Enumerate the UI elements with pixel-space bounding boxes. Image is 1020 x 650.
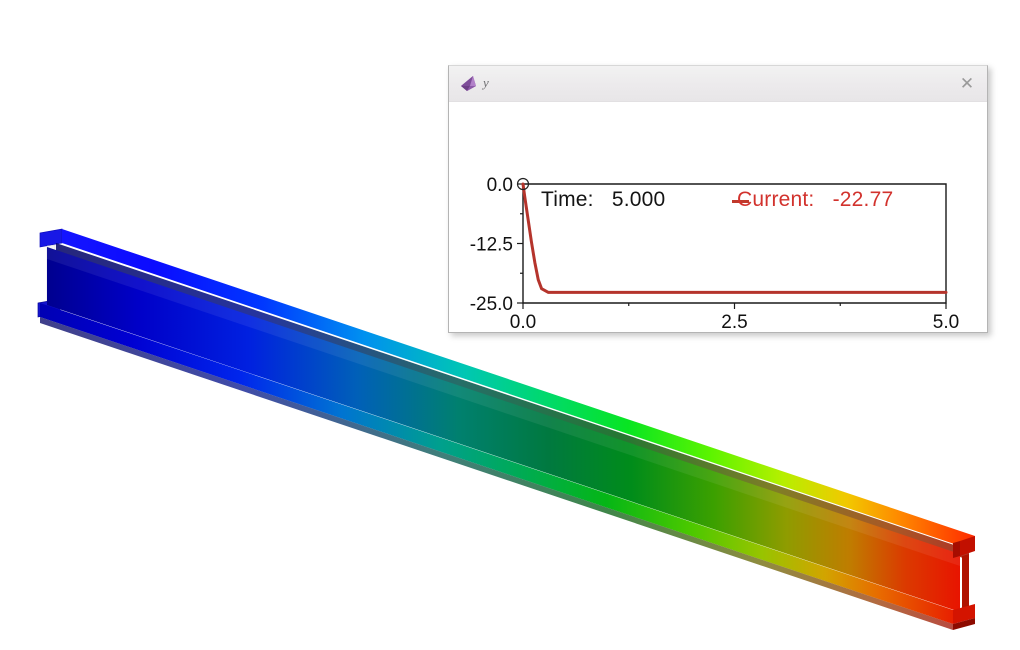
current-value: -22.77: [833, 188, 894, 211]
x-tick-label: 0.0: [510, 312, 536, 332]
time-label: Time:: [541, 188, 594, 211]
application-root: y ✕ 0.0-12.5-25.0 0.02.55.0: [0, 0, 1020, 650]
beam-right-web-face: [962, 554, 969, 612]
beam-bottom-flange-front: [40, 303, 953, 624]
plot-body: 0.0-12.5-25.0 0.02.55.0 Time: 5.000 Curr…: [449, 102, 987, 332]
time-value: 5.000: [612, 188, 666, 211]
x-tick-label: 5.0: [933, 312, 959, 332]
x-tick-label: 2.5: [721, 312, 747, 332]
plot-window[interactable]: y ✕ 0.0-12.5-25.0 0.02.55.0: [448, 65, 988, 333]
current-readout: Current: -22.77: [737, 188, 893, 212]
y-axis-ticks: [517, 184, 523, 303]
cone-icon: [459, 74, 479, 94]
y-tick-label: 0.0: [487, 175, 513, 196]
x-axis-tick-labels: 0.02.55.0: [510, 312, 959, 332]
x-axis-ticks: [523, 303, 946, 309]
plot-window-titlebar[interactable]: y ✕: [449, 66, 987, 102]
line-chart[interactable]: 0.0-12.5-25.0 0.02.55.0: [449, 102, 987, 332]
beam-right-top-flange-side: [953, 541, 960, 558]
y-axis-tick-labels: 0.0-12.5-25.0: [470, 175, 513, 315]
beam-bottom-flange-underside: [40, 317, 953, 630]
current-label: Current:: [737, 188, 814, 211]
close-icon[interactable]: ✕: [955, 72, 979, 96]
plot-window-title: y: [483, 75, 489, 91]
time-readout: Time: 5.000: [541, 188, 665, 212]
y-tick-label: -25.0: [470, 294, 513, 315]
y-tick-label: -12.5: [470, 235, 513, 256]
